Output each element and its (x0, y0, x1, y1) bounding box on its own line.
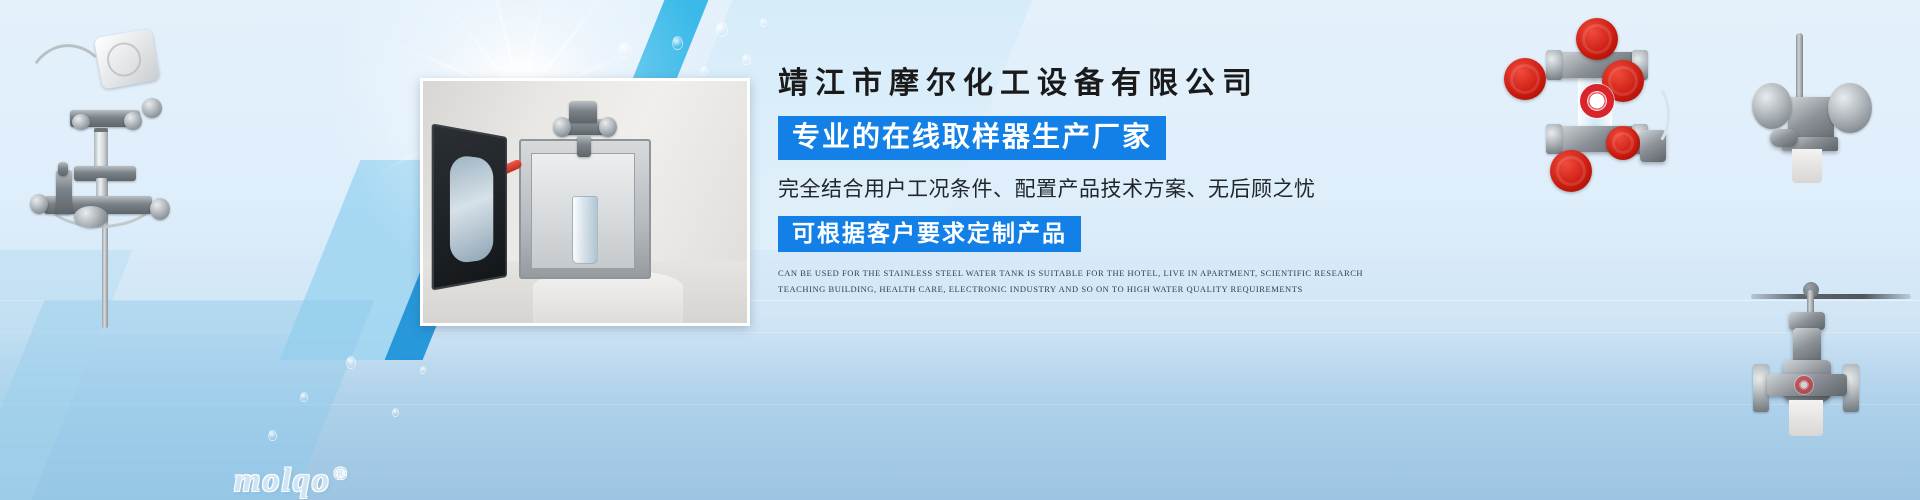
company-name: 靖江市摩尔化工设备有限公司 (778, 66, 1398, 102)
promo-banner: 靖江市摩尔化工设备有限公司 专业的在线取样器生产厂家 完全结合用户工况条件、配置… (0, 0, 1920, 500)
product-valve-manifold (1500, 22, 1700, 172)
water-droplet (760, 18, 767, 27)
brand-watermark: molqo® (234, 462, 349, 500)
horizon-line-3 (0, 404, 1920, 405)
water-droplet (618, 42, 631, 58)
horizon-line-1 (0, 300, 1920, 301)
watermark-text: molqo (234, 462, 331, 499)
english-description: CAN BE USED FOR THE STAINLESS STEEL WATE… (778, 266, 1378, 297)
registered-mark: ® (334, 464, 349, 483)
product-online-sampler (10, 28, 200, 328)
water-droplet (716, 22, 728, 37)
product-lever-valve (1740, 25, 1910, 205)
horizon-line-2 (0, 332, 1920, 333)
product-photo-sampling-cabinet (420, 78, 750, 326)
product-gate-valve (1745, 272, 1920, 452)
banner-copy: 靖江市摩尔化工设备有限公司 专业的在线取样器生产厂家 完全结合用户工况条件、配置… (778, 66, 1398, 297)
sub-tagline: 完全结合用户工况条件、配置产品技术方案、无后顾之忧 (778, 173, 1398, 203)
headline-highlight: 专业的在线取样器生产厂家 (778, 116, 1166, 160)
water-droplet (742, 54, 751, 65)
water-droplet (700, 66, 708, 76)
water-droplet (672, 36, 683, 50)
cta-highlight: 可根据客户要求定制产品 (778, 216, 1081, 252)
